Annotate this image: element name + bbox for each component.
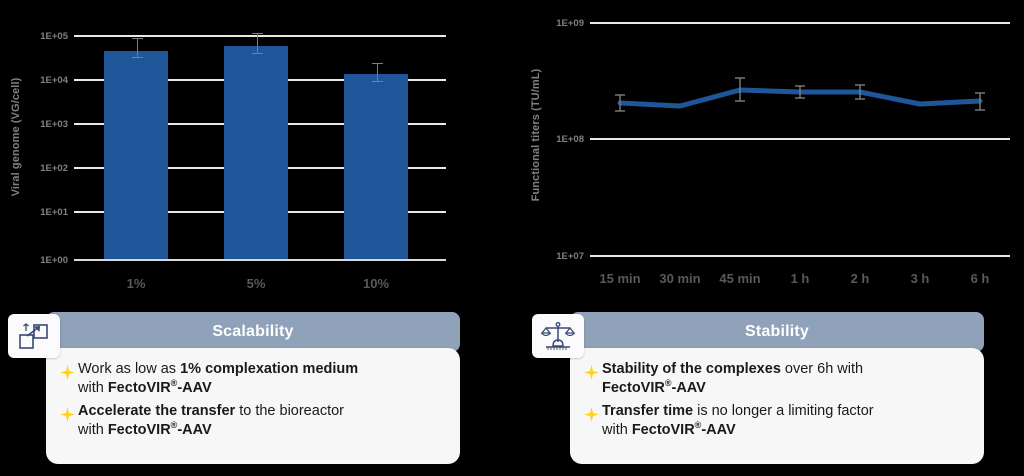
stability-chart: Functional titers (TU/mL) 1E+09 1E+08 1E…	[512, 0, 1024, 300]
scalability-card-body: Work as low as 1% complexation mediumwit…	[46, 348, 460, 464]
scale-resize-icon	[8, 314, 60, 358]
list-item: Work as low as 1% complexation mediumwit…	[56, 360, 446, 398]
stability-card-title: Stability	[745, 323, 809, 341]
y-tick-1e04: 1E+04	[24, 75, 68, 86]
balance-scales-icon	[532, 314, 584, 358]
bar-1pct	[104, 51, 168, 259]
x-tick-1pct: 1%	[96, 276, 176, 291]
stability-card-header: Stability	[570, 312, 984, 352]
error-cap-bottom-10pct	[372, 81, 383, 82]
scale-resize-icon-glyph	[17, 321, 51, 351]
bar-5pct	[224, 46, 288, 259]
stability-error-bars	[615, 78, 985, 111]
scalability-y-axis-title: Viral genome (VG/cell)	[10, 22, 22, 252]
y-tick-1e05: 1E+05	[24, 31, 68, 42]
error-cap-top-10pct	[372, 63, 383, 64]
x-tick-5pct: 5%	[216, 276, 296, 291]
bullet-text: Stability of the complexes over 6h withF…	[602, 360, 970, 398]
error-cap-bottom-5pct	[252, 53, 263, 54]
x-tick-10pct: 10%	[336, 276, 416, 291]
star-bullet-glyph	[584, 407, 599, 422]
error-bar-5pct	[257, 33, 258, 53]
scalability-card: Scalability Work as low as 1% complexati…	[8, 312, 460, 464]
gridline-1e07	[590, 255, 1010, 257]
bullet-text: Transfer time is no longer a limiting fa…	[602, 402, 970, 440]
gridline-1e00-baseline	[74, 259, 446, 261]
error-cap-bottom-1pct	[132, 57, 143, 58]
y-tick-1e03: 1E+03	[24, 119, 68, 130]
list-item: Transfer time is no longer a limiting fa…	[580, 402, 970, 440]
gridline-1e05	[74, 35, 446, 37]
scalability-card-header: Scalability	[46, 312, 460, 352]
star-bullet-glyph	[584, 365, 599, 380]
stability-data-line	[620, 90, 980, 106]
balance-scales-icon-glyph	[540, 320, 576, 352]
star-bullet-icon	[580, 404, 602, 424]
scalability-chart: Viral genome (VG/cell) 1E+05 1E+04 1E+03…	[0, 0, 512, 300]
stability-card-body: Stability of the complexes over 6h withF…	[570, 348, 984, 464]
y-tick-1e07: 1E+07	[540, 251, 584, 262]
star-bullet-icon	[56, 362, 78, 382]
stability-card: Stability	[532, 312, 984, 464]
list-item: Stability of the complexes over 6h withF…	[580, 360, 970, 398]
bullet-text: Work as low as 1% complexation mediumwit…	[78, 360, 446, 398]
bullet-text: Accelerate the transfer to the bioreacto…	[78, 402, 446, 440]
gridline-1e08	[590, 138, 1010, 140]
error-bar-10pct	[377, 63, 378, 81]
y-tick-1e01: 1E+01	[24, 207, 68, 218]
star-bullet-glyph	[60, 365, 75, 380]
star-bullet-icon	[56, 404, 78, 424]
error-cap-top-1pct	[132, 38, 143, 39]
y-tick-1e09: 1E+09	[540, 18, 584, 29]
y-tick-1e02: 1E+02	[24, 163, 68, 174]
scalability-card-title: Scalability	[212, 323, 293, 341]
bar-10pct	[344, 74, 408, 259]
list-item: Accelerate the transfer to the bioreacto…	[56, 402, 446, 440]
slide-canvas: Viral genome (VG/cell) 1E+05 1E+04 1E+03…	[0, 0, 1024, 476]
x-tick-6h: 6 h	[940, 271, 1020, 286]
error-bar-1pct	[137, 38, 138, 57]
error-cap-top-5pct	[252, 33, 263, 34]
gridline-1e09	[590, 22, 1010, 24]
y-tick-1e08: 1E+08	[540, 134, 584, 145]
star-bullet-icon	[580, 362, 602, 382]
y-tick-1e00: 1E+00	[24, 255, 68, 266]
star-bullet-glyph	[60, 407, 75, 422]
